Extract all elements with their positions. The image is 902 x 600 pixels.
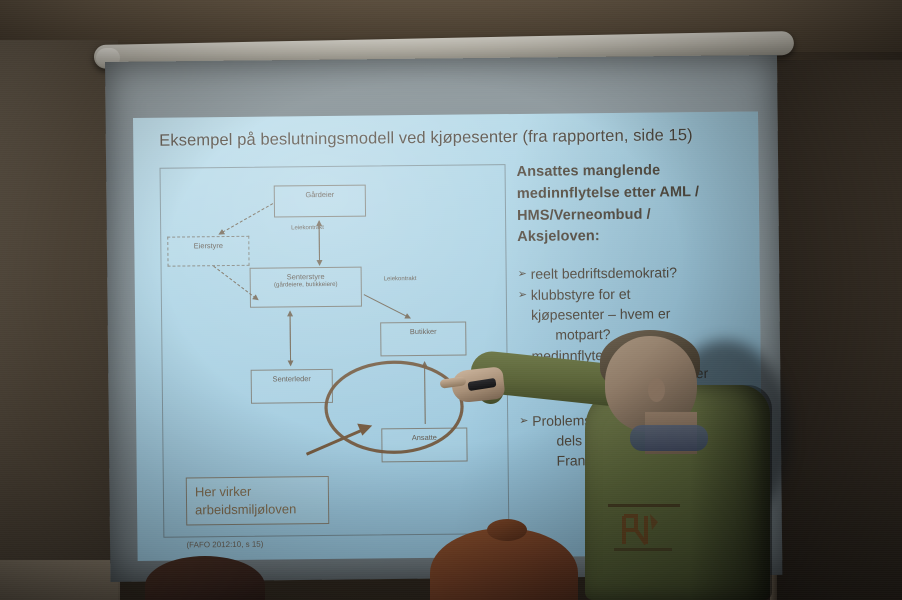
heading-line-2: medinnflytelse etter AML /: [517, 181, 752, 205]
bullet-marker-icon: ➢: [518, 265, 531, 285]
right-wall: [770, 60, 902, 600]
slide-title: Eksempel på beslutningsmodell ved kjøpes…: [159, 126, 739, 151]
bullet-item: ➢ reelt bedriftsdemokrati?: [518, 263, 753, 285]
left-wall: [0, 40, 118, 600]
heading-line-3: HMS/Verneombud /: [517, 203, 752, 227]
presenter-ear: [648, 378, 665, 402]
callout-line-2: arbeidsmiljøloven: [195, 500, 320, 519]
slide-source-note: (FAFO 2012:10, s 15): [186, 540, 263, 550]
callout-line-1: Her virker: [195, 482, 320, 501]
sweater-chest-logo: [606, 500, 682, 558]
heading-line-1: Ansattes manglende: [516, 160, 751, 184]
audience-hair-tuft: [487, 519, 527, 541]
presenter-torso-shading: [690, 385, 772, 600]
conference-room-photo: Eksempel på beslutningsmodell ved kjøpes…: [0, 0, 902, 600]
bullet-line: motpart?: [531, 326, 610, 343]
decision-model-diagram: Gårdeier Eierstyre Senterstyre (gårdeier…: [160, 164, 510, 538]
bullet-text: reelt bedriftsdemokrati?: [531, 263, 753, 285]
bullet-marker-icon: ➢: [519, 412, 533, 472]
bullet-line: klubbstyre for et: [531, 286, 631, 303]
presenter-collar: [630, 425, 708, 451]
right-column-heading: Ansattes manglende medinnflytelse etter …: [516, 160, 752, 249]
bullet-marker-icon: ➢: [518, 286, 532, 346]
floor-strip: [0, 560, 120, 600]
heading-line-4: Aksjeloven:: [517, 225, 752, 249]
bullet-line: kjøpesenter – hvem er: [531, 305, 670, 322]
handwritten-callout-box: Her virker arbeidsmiljøloven: [186, 476, 329, 525]
